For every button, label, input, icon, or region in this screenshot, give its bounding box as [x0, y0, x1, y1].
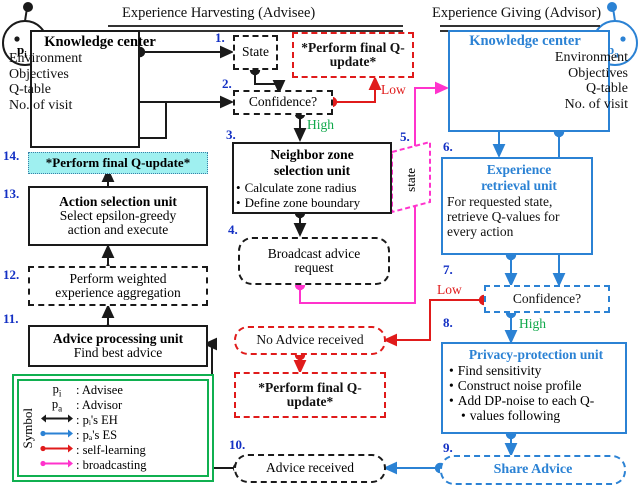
right-kc-item-2: Q-table — [450, 81, 628, 97]
legend-row-2: : pᵢ's EH — [40, 413, 210, 428]
perform-final-q-update-top: *Perform final Q-update* — [292, 32, 414, 78]
neighbor-zone-title-1: Neighbor zone — [234, 147, 390, 163]
step-number-4: 4. — [228, 222, 238, 238]
right-kc-item-1: Objectives — [450, 66, 628, 82]
step-number-7: 7. — [443, 262, 453, 278]
step-number-2: 2. — [222, 76, 232, 92]
privacy-bullets: Find sensitivity Construct noise profile… — [447, 363, 625, 423]
legend-text-0: : Advisee — [74, 383, 123, 398]
neighbor-bullet-1: Define zone boundary — [236, 196, 390, 211]
privacy-bullet-0: Find sensitivity — [449, 363, 625, 378]
action-selection-unit: Action selection unit Select epsilon-gre… — [28, 186, 208, 246]
perform-final-q-bottom-1: *Perform final Q- — [258, 381, 361, 395]
legend-text-3: : pₐ's ES — [74, 428, 117, 443]
perform-final-q-update-bottom: *Perform final Q- update* — [234, 372, 386, 418]
legend-rows: pi : Advisee pa : Advisor : pᵢ's EH — [40, 383, 210, 473]
legend-row-4: : self-learning — [40, 443, 210, 458]
step-number-11: 11. — [3, 311, 19, 327]
perform-final-q-update-top-label: *Perform final Q-update* — [294, 41, 412, 69]
experience-retrieval-unit: Experience retrieval unit For requested … — [441, 157, 593, 255]
advice-received-box: Advice received — [234, 454, 386, 483]
step-number-3: 3. — [226, 127, 236, 143]
step-number-13: 13. — [3, 186, 19, 202]
neighbor-bullet-0: Calculate zone radius — [236, 181, 390, 196]
experience-body-3: every action — [447, 224, 591, 239]
left-kc-item-3: No. of visit — [9, 98, 165, 114]
perform-final-q-bottom-2: update* — [287, 395, 334, 409]
legend-arrow-red-icon — [40, 443, 74, 458]
weighted-aggregation-box: Perform weighted experience aggregation — [28, 266, 208, 306]
right-kc-title: Knowledge center — [450, 33, 628, 50]
step-number-6: 6. — [443, 139, 453, 155]
weighted-line-2: experience aggregation — [55, 286, 181, 300]
left-kc-item-2: Q-table — [9, 82, 165, 98]
share-advice-box: Share Advice — [440, 455, 626, 485]
right-knowledge-center-body: Knowledge center Environment Objectives … — [450, 32, 632, 132]
legend-row-0: pi : Advisee — [40, 383, 210, 398]
experience-title-1: Experience — [447, 162, 591, 178]
left-knowledge-center-body: Knowledge center Environment Objectives … — [5, 32, 165, 147]
experience-body-1: For requested state, — [447, 194, 591, 209]
confidence-left-box: Confidence? — [233, 90, 333, 115]
legend-row-5: : broadcasting — [40, 458, 210, 473]
header-left-title: Experience Harvesting (Advisee) — [122, 5, 315, 22]
privacy-bullet-3: values following — [449, 408, 625, 423]
legend-title-wrap: Symbol — [18, 382, 38, 474]
experience-body-2: retrieve Q-values for — [447, 209, 591, 224]
step-number-12: 12. — [3, 267, 19, 283]
high-label-right: High — [519, 316, 546, 332]
weighted-line-1: Perform weighted — [69, 272, 166, 286]
neighbor-zone-bullets: Calculate zone radius Define zone bounda… — [234, 181, 390, 210]
low-label-right: Low — [437, 282, 462, 298]
confidence-left-label: Confidence? — [249, 95, 317, 109]
action-selection-title: Action selection unit — [59, 195, 177, 209]
advice-processing-unit: Advice processing unit Find best advice — [28, 325, 208, 367]
step-number-10: 10. — [229, 437, 245, 453]
legend-row-3: : pₐ's ES — [40, 428, 210, 443]
no-advice-received-label: No Advice received — [256, 333, 363, 347]
state-box: State — [233, 35, 278, 70]
legend-arrow-magenta-icon — [40, 458, 74, 473]
step-number-9: 9. — [443, 440, 453, 456]
step-number-1: 1. — [215, 30, 225, 46]
left-kc-title: Knowledge center — [9, 34, 165, 51]
broadcast-advice-request: Broadcast advice request — [238, 237, 390, 285]
legend-arrow-black-icon — [40, 413, 74, 428]
perform-final-q-cyan-label: *Perform final Q-update* — [46, 156, 190, 170]
legend-text-2: : pᵢ's EH — [74, 413, 118, 428]
left-kc-item-0: Environment — [9, 51, 165, 67]
state-label: State — [242, 45, 269, 59]
header-right-title: Experience Giving (Advisor) — [432, 5, 601, 22]
action-selection-body-2: action and execute — [68, 223, 168, 237]
share-advice-label: Share Advice — [494, 463, 573, 478]
broadcast-line-2: request — [295, 261, 334, 275]
right-kc-item-3: No. of visit — [450, 97, 628, 113]
confidence-right-box: Confidence? — [484, 285, 610, 313]
privacy-bullet-2: Add DP-noise to each Q- — [449, 393, 625, 408]
legend-arrow-blue-icon — [40, 428, 74, 443]
low-label-left: Low — [381, 82, 406, 98]
step-number-5: 5. — [400, 129, 410, 145]
no-advice-received-box: No Advice received — [234, 326, 386, 355]
privacy-title: Privacy-protection unit — [447, 347, 625, 363]
right-kc-item-0: Environment — [450, 50, 628, 66]
legend-key-1: pa — [40, 397, 74, 414]
perform-final-q-update-cyan: *Perform final Q-update* — [28, 152, 208, 174]
experience-title-2: retrieval unit — [447, 178, 591, 194]
legend-text-4: : self-learning — [74, 443, 146, 458]
neighbor-zone-title-2: selection unit — [234, 163, 390, 179]
action-selection-body-1: Select epsilon-greedy — [60, 209, 177, 223]
legend-text-1: : Advisor — [74, 398, 122, 413]
step-number-14: 14. — [3, 148, 19, 164]
legend-title: Symbol — [20, 408, 36, 448]
privacy-protection-unit: Privacy-protection unit Find sensitivity… — [441, 342, 627, 434]
advice-processing-body: Find best advice — [74, 346, 162, 360]
header-left-rule — [108, 25, 403, 32]
privacy-bullet-1: Construct noise profile — [449, 378, 625, 393]
legend-text-5: : broadcasting — [74, 458, 146, 473]
confidence-right-label: Confidence? — [513, 292, 581, 306]
broadcast-line-1: Broadcast advice — [268, 247, 361, 261]
state-pipe-label-wrap: state — [398, 155, 424, 205]
legend-row-1: pa : Advisor — [40, 398, 210, 413]
left-kc-item-1: Objectives — [9, 67, 165, 83]
neighbor-zone-unit: Neighbor zone selection unit Calculate z… — [232, 142, 392, 214]
step-number-8: 8. — [443, 315, 453, 331]
advice-received-label: Advice received — [266, 461, 354, 475]
diagram-canvas: Experience Harvesting (Advisee) Experien… — [0, 0, 640, 489]
high-label-left: High — [307, 117, 334, 133]
state-pipe-label: state — [403, 168, 419, 192]
advice-processing-title: Advice processing unit — [53, 332, 183, 346]
